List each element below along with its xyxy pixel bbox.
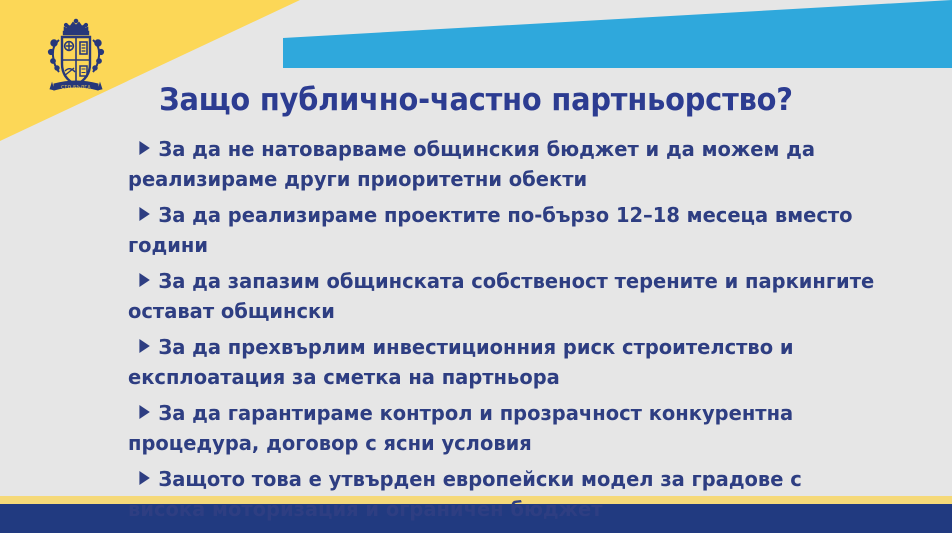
bullet-list: За да не натоварваме общинския бюджет и …	[128, 134, 918, 530]
triangle-bullet-icon	[139, 405, 149, 419]
triangle-bullet-icon	[139, 471, 149, 485]
list-item-text: За да запазим общинската собственост тер…	[128, 269, 874, 323]
list-item: За да не натоварваме общинския бюджет и …	[128, 134, 879, 194]
list-item: Защото това е утвърден европейски модел …	[128, 464, 879, 524]
list-item: За да запазим общинската собственост тер…	[128, 266, 879, 326]
triangle-bullet-icon	[139, 207, 149, 221]
triangle-bullet-icon	[139, 273, 149, 287]
triangle-bullet-icon	[139, 141, 149, 155]
list-item-text: Защото това е утвърден европейски модел …	[128, 467, 802, 521]
slide-title: Защо публично-частно партньорство?	[33, 82, 918, 118]
list-item: За да гарантираме контрол и прозрачност …	[128, 398, 879, 458]
list-item-text: За да не натоварваме общинския бюджет и …	[128, 137, 815, 191]
triangle-bullet-icon	[139, 339, 149, 353]
list-item: За да прехвърлим инвестиционния риск стр…	[128, 332, 879, 392]
presentation-slide: СТО БЪЛГА Защо публично-частно партньорс…	[0, 0, 952, 533]
list-item-text: За да гарантираме контрол и прозрачност …	[128, 401, 793, 455]
list-item-text: За да реализираме проектите по-бързо 12–…	[128, 203, 853, 257]
list-item: За да реализираме проектите по-бързо 12–…	[128, 200, 879, 260]
list-item-text: За да прехвърлим инвестиционния риск стр…	[128, 335, 794, 389]
